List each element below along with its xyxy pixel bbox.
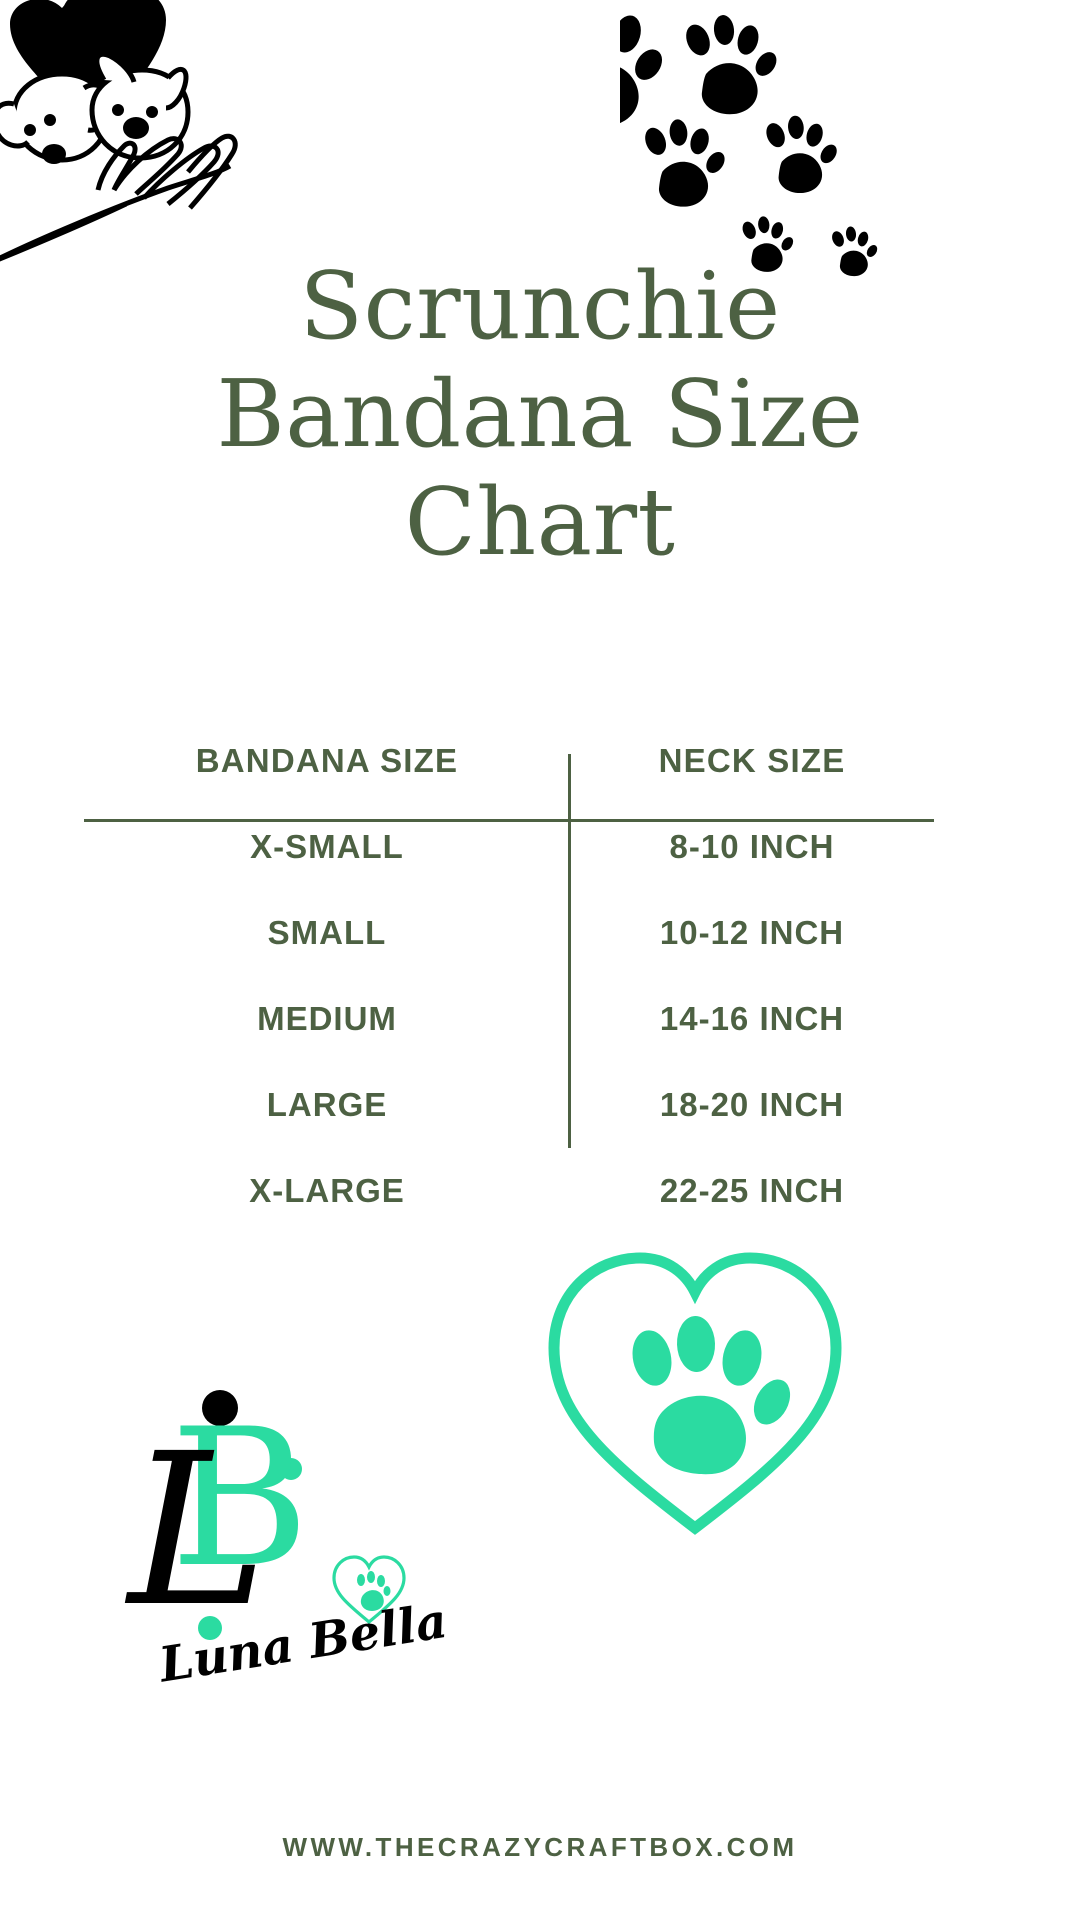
table-header-row: BANDANA SIZE NECK SIZE bbox=[84, 742, 934, 804]
title-line-2: Bandana Size bbox=[0, 360, 1080, 468]
table-column-divider bbox=[568, 754, 571, 1148]
cell-neck-size: 22-25 INCH bbox=[570, 1172, 934, 1210]
footer-website-url: WWW.THECRAZYCRAFTBOX.COM bbox=[0, 1832, 1080, 1863]
cell-neck-size: 14-16 INCH bbox=[570, 1000, 934, 1038]
table-row: LARGE 18-20 INCH bbox=[84, 1062, 934, 1148]
table-row: MEDIUM 14-16 INCH bbox=[84, 976, 934, 1062]
cell-neck-size: 10-12 INCH bbox=[570, 914, 934, 952]
table-header-rule bbox=[84, 819, 934, 822]
title-line-1: Scrunchie bbox=[0, 252, 1080, 360]
table-row: X-SMALL 8-10 INCH bbox=[84, 804, 934, 890]
cell-bandana-size: X-SMALL bbox=[84, 828, 570, 866]
cell-bandana-size: SMALL bbox=[84, 914, 570, 952]
page-title: Scrunchie Bandana Size Chart bbox=[0, 252, 1080, 576]
cell-neck-size: 8-10 INCH bbox=[570, 828, 934, 866]
size-chart-poster: Scrunchie Bandana Size Chart BANDANA SIZ… bbox=[0, 0, 1080, 1920]
brand-logo: B L Luna Bella bbox=[150, 1390, 450, 1720]
table-body: X-SMALL 8-10 INCH SMALL 10-12 INCH MEDIU… bbox=[84, 804, 934, 1234]
cell-bandana-size: X-LARGE bbox=[84, 1172, 570, 1210]
cell-neck-size: 18-20 INCH bbox=[570, 1086, 934, 1124]
column-header-neck-size: NECK SIZE bbox=[570, 742, 934, 804]
dogs-in-hand-illustration bbox=[0, 0, 312, 294]
heart-paw-graphic bbox=[540, 1240, 850, 1540]
column-header-bandana-size: BANDANA SIZE bbox=[84, 742, 570, 804]
title-line-3: Chart bbox=[0, 468, 1080, 576]
cell-bandana-size: MEDIUM bbox=[84, 1000, 570, 1038]
logo-monogram-l: L bbox=[128, 1426, 267, 1636]
cell-bandana-size: LARGE bbox=[84, 1086, 570, 1124]
table-row: X-LARGE 22-25 INCH bbox=[84, 1148, 934, 1234]
size-table: BANDANA SIZE NECK SIZE X-SMALL 8-10 INCH… bbox=[84, 742, 934, 1234]
table-row: SMALL 10-12 INCH bbox=[84, 890, 934, 976]
